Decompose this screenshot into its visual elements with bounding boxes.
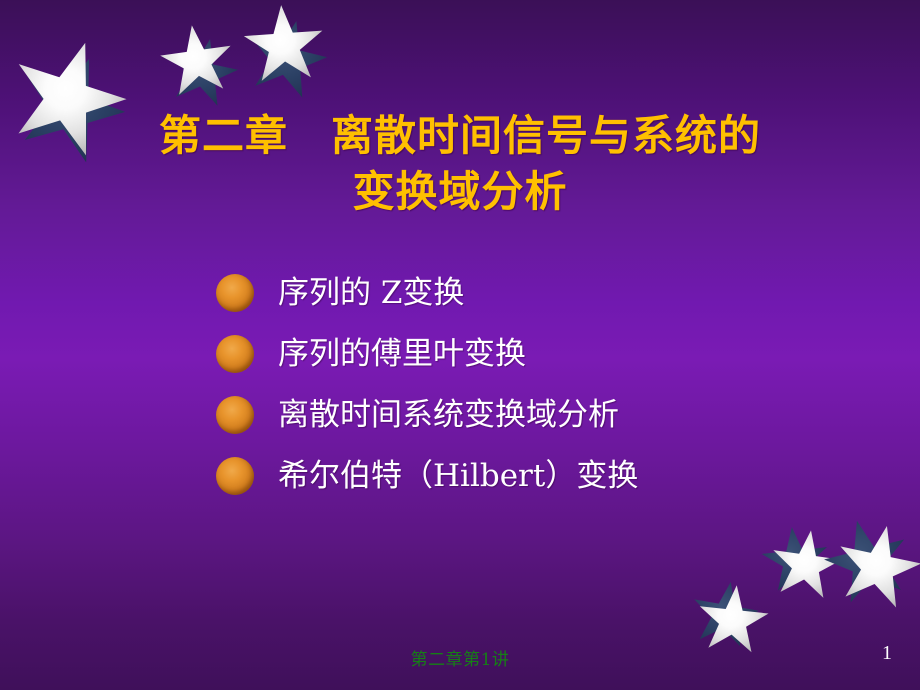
star-back-shape <box>815 510 919 614</box>
star-bottom-middle <box>770 530 842 602</box>
star-front-shape <box>240 2 328 90</box>
list-item-label: 序列的傅里叶变换 <box>278 337 526 371</box>
list-item-label: 希尔伯特（Hilbert）变换 <box>278 459 638 493</box>
slide-title: 第二章 离散时间信号与系统的 变换域分析 <box>60 108 860 220</box>
star-back-shape <box>238 11 335 108</box>
star-back-shape <box>161 32 244 115</box>
list-item-label: 离散时间系统变换域分析 <box>278 398 619 432</box>
star-front-shape <box>827 517 920 619</box>
bullet-circle-icon <box>216 274 254 312</box>
star-back-shape <box>758 523 833 598</box>
title-line-2: 变换域分析 <box>60 164 860 220</box>
presentation-slide: 第二章 离散时间信号与系统的 变换域分析 序列的 Z变换 序列的傅里叶变换 离散… <box>0 0 920 690</box>
star-top-middle <box>160 25 234 99</box>
list-item-label: 序列的 Z变换 <box>278 276 464 310</box>
bullet-list: 序列的 Z变换 序列的傅里叶变换 离散时间系统变换域分析 希尔伯特（Hilber… <box>216 262 856 506</box>
star-bottom-right-large <box>835 525 920 611</box>
list-item[interactable]: 希尔伯特（Hilbert）变换 <box>216 445 856 506</box>
page-number: 1 <box>882 642 892 665</box>
star-back-shape <box>685 576 764 655</box>
slide-footer: 第二章第1讲 <box>0 645 920 670</box>
bullet-circle-icon <box>216 396 254 434</box>
bullet-circle-icon <box>216 457 254 495</box>
list-item[interactable]: 序列的傅里叶变换 <box>216 323 856 384</box>
star-front-shape <box>765 525 846 606</box>
list-item[interactable]: 序列的 Z变换 <box>216 262 856 323</box>
title-line-1: 第二章 离散时间信号与系统的 <box>60 108 860 164</box>
bullet-circle-icon <box>216 335 254 373</box>
star-top-right <box>243 5 325 87</box>
star-front-shape <box>155 20 239 104</box>
list-item[interactable]: 离散时间系统变换域分析 <box>216 384 856 445</box>
